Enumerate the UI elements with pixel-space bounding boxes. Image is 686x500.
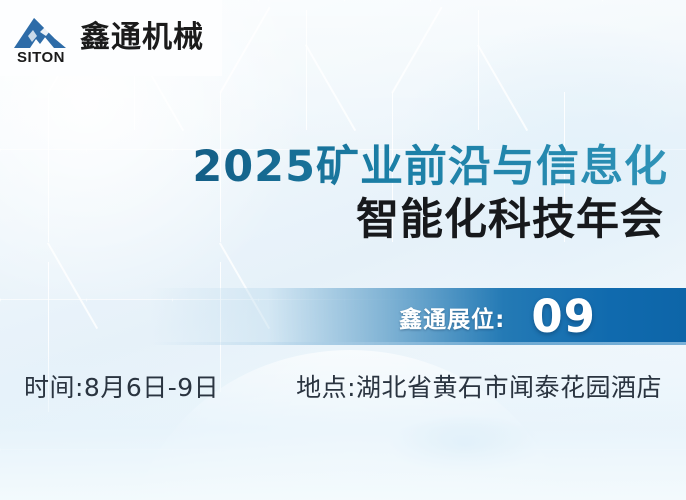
hex-diagonal-6 bbox=[477, 44, 528, 130]
hex-edge-line-1 bbox=[48, 92, 49, 242]
event-time: 时间:8月6日-9日 bbox=[24, 368, 219, 404]
hex-diagonal-3 bbox=[219, 7, 270, 93]
event-poster: SITON 鑫通机械 2025矿业前沿与信息化 智能化科技年会 鑫通展位: 09… bbox=[0, 0, 686, 500]
page-title: 2025矿业前沿与信息化 智能化科技年会 bbox=[0, 142, 668, 245]
right-glow-overlay bbox=[386, 20, 686, 320]
brand-name-chinese: 鑫通机械 bbox=[80, 23, 204, 53]
hex-diagonal-5 bbox=[391, 7, 442, 93]
title-line-2: 智能化科技年会 bbox=[0, 195, 668, 246]
bottom-arc-highlight bbox=[130, 350, 570, 500]
svg-text:SITON: SITON bbox=[17, 49, 65, 64]
hex-diagonal-4 bbox=[305, 44, 356, 130]
hex-edge-line-7 bbox=[564, 92, 565, 242]
booth-number: 09 bbox=[531, 294, 596, 339]
hex-diagonal-7 bbox=[47, 242, 98, 328]
hex-edge-line-3 bbox=[220, 92, 221, 242]
event-place: 地点:湖北省黄石市闻泰花园酒店 bbox=[296, 368, 662, 404]
hex-edge-line-8 bbox=[48, 262, 49, 412]
booth-banner: 鑫通展位: 09 bbox=[150, 288, 686, 345]
booth-label: 鑫通展位: bbox=[399, 300, 505, 334]
bottom-tint-overlay bbox=[0, 340, 686, 500]
hex-edge-line-4 bbox=[306, 10, 307, 130]
event-details: 时间:8月6日-9日 地点:湖北省黄石市闻泰花园酒店 bbox=[24, 368, 662, 404]
mountain-peak-icon: SITON bbox=[10, 12, 72, 64]
hex-edge-line-6 bbox=[478, 10, 479, 130]
brand-logo: SITON 鑫通机械 bbox=[0, 0, 222, 76]
bottom-blue-wisp bbox=[390, 415, 540, 475]
title-line-1: 2025矿业前沿与信息化 bbox=[0, 142, 668, 193]
hex-edge-line-5 bbox=[392, 92, 393, 242]
